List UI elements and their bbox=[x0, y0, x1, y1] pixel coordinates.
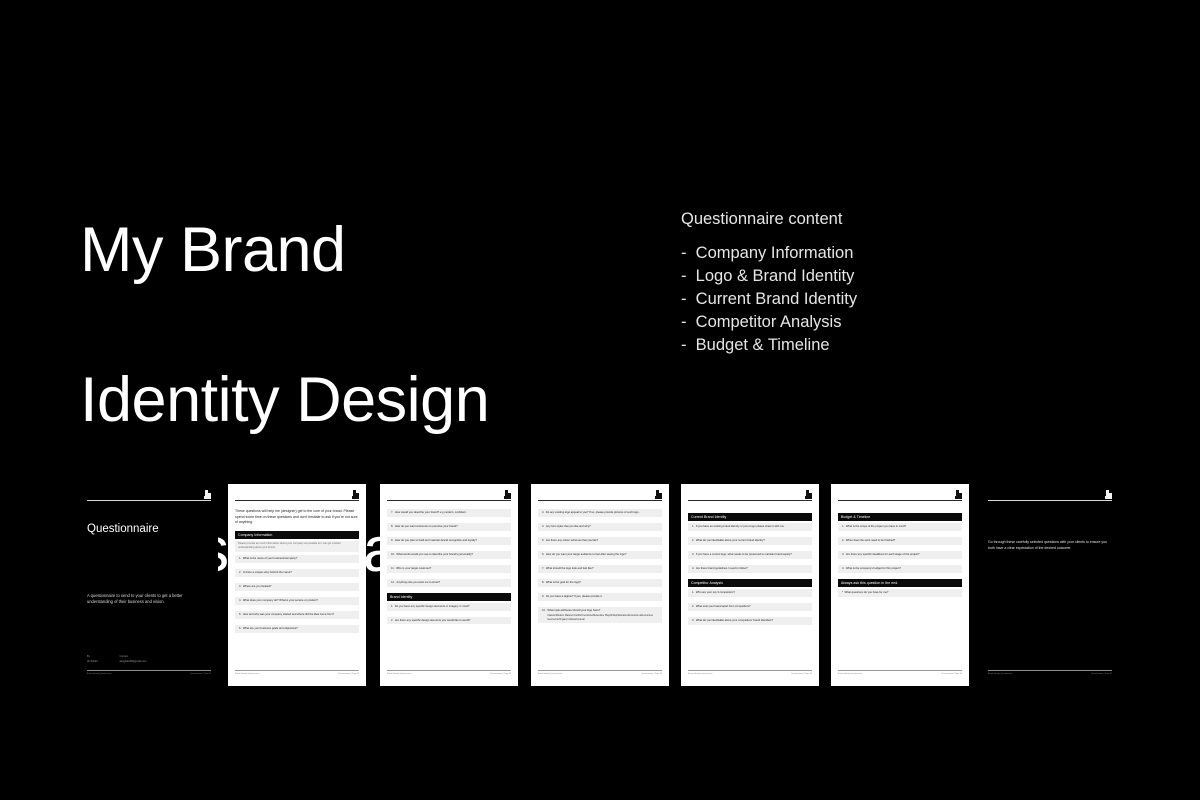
question-number: 1. bbox=[842, 525, 844, 529]
question-row[interactable]: 5.How and why was your company started a… bbox=[235, 611, 359, 619]
question-row[interactable]: 2.When does the work need to be finished… bbox=[838, 537, 962, 545]
question-row[interactable]: 11.Who is your target customer? bbox=[387, 565, 511, 573]
question-text: Are there any specific deadlines for eac… bbox=[846, 553, 959, 557]
section-header: Current Brand Identity bbox=[688, 513, 812, 521]
question-row[interactable]: 9.How do you plan to build and maintain … bbox=[387, 537, 511, 545]
question-text: What should the logo look and feel like? bbox=[546, 567, 659, 571]
question-row[interactable]: 3.If you have a current logo, what needs… bbox=[688, 551, 812, 559]
footer-rule bbox=[838, 670, 962, 671]
footer-right-text: Questionnaire | Page 06 bbox=[941, 673, 962, 676]
question-row[interactable]: 4.Any font styles that you like and why? bbox=[538, 523, 662, 531]
page-title-line-2: Identity Design bbox=[80, 363, 489, 438]
question-number: 3. bbox=[842, 553, 844, 557]
page-header bbox=[838, 490, 962, 503]
footer-rule bbox=[688, 670, 812, 671]
question-text: What do you like/dislike about your curr… bbox=[696, 539, 809, 543]
question-text: What is the company's budget for this pr… bbox=[846, 567, 959, 571]
question-text: Are there any colour schemes that you li… bbox=[546, 539, 659, 543]
question-number: 5. bbox=[239, 613, 241, 617]
question-number: 6. bbox=[542, 553, 544, 557]
question-number: 9. bbox=[542, 595, 544, 599]
section-header: Company Information bbox=[235, 531, 359, 539]
page-header bbox=[87, 490, 211, 503]
page-header bbox=[387, 490, 511, 503]
question-text: How would you describe your brand? e.g m… bbox=[395, 511, 508, 515]
footer-right-text: Questionnaire | Page 05 bbox=[791, 673, 812, 676]
footer-left-text: Brand Identity Questionnaire bbox=[688, 673, 713, 676]
cover-meta-label: By bbox=[87, 655, 97, 658]
footer-left-text: Brand Identity Questionnaire bbox=[235, 673, 260, 676]
question-text: If you have a current logo, what needs t… bbox=[696, 553, 809, 557]
question-row[interactable]: 4.Are there brand guidelines I need to f… bbox=[688, 565, 812, 573]
brand-a-logo-icon bbox=[1105, 490, 1112, 499]
question-row[interactable]: 3.Where are you located? bbox=[235, 583, 359, 591]
question-text: What is the goal for the logo? bbox=[546, 581, 659, 585]
footer-right-text: Questionnaire | Page 02 bbox=[338, 673, 359, 676]
question-text: What questions do you have for me? bbox=[845, 591, 959, 595]
section-header: Budget & Timeline bbox=[838, 513, 962, 521]
question-text: What is the name of your business/compan… bbox=[243, 557, 356, 561]
page-footer: Brand Identity QuestionnaireQuestionnair… bbox=[387, 669, 511, 681]
question-text: Who are your top 3 competitors? bbox=[696, 591, 809, 595]
question-text: Anything else you want me to know? bbox=[396, 581, 508, 585]
question-row[interactable]: 1.What is the scope of the project you h… bbox=[838, 523, 962, 531]
question-number: 8. bbox=[391, 525, 393, 529]
brand-a-logo-icon bbox=[352, 490, 359, 499]
contents-item-competitor-analysis: - Competitor Analysis bbox=[681, 311, 857, 334]
cover-description: A questionnaire to send to your clients … bbox=[87, 593, 203, 605]
page-header bbox=[688, 490, 812, 503]
question-row[interactable]: 1.If you have an existing brand identity… bbox=[688, 523, 812, 531]
question-text: Any font styles that you like and why? bbox=[546, 525, 659, 529]
question-row[interactable]: 1.Do you have any specific design elemen… bbox=[387, 603, 511, 611]
question-number: 3. bbox=[692, 619, 694, 623]
question-number: 11. bbox=[391, 567, 395, 571]
intro-paragraph: These questions will help me (designer) … bbox=[235, 509, 359, 526]
question-row[interactable]: 7.How would you describe your brand? e.g… bbox=[387, 509, 511, 517]
question-row[interactable]: 4.What is the company's budget for this … bbox=[838, 565, 962, 573]
question-text: What sets your brand apart from competit… bbox=[696, 605, 809, 609]
contents-item-current-brand-identity: - Current Brand Identity bbox=[681, 288, 857, 311]
page-footer: Brand Identity QuestionnaireQuestionnair… bbox=[688, 669, 812, 681]
brand-a-logo-icon bbox=[955, 490, 962, 499]
brand-a-logo-icon bbox=[504, 490, 511, 499]
brand-a-logo-icon bbox=[655, 490, 662, 499]
question-text: How do you want customers to perceive yo… bbox=[395, 525, 508, 529]
footer-left-text: Brand Identity Questionnaire bbox=[838, 673, 863, 676]
question-text: What are your business goals and objecti… bbox=[243, 627, 356, 631]
cover-meta-value: Ali Sohail bbox=[87, 660, 97, 663]
question-number: 8. bbox=[542, 581, 544, 585]
question-number: 7. bbox=[391, 511, 393, 515]
footer-right-text: Questionnaire | Page 07 bbox=[1091, 673, 1112, 676]
question-row[interactable]: 3.Do any existing logo appeal to you? If… bbox=[538, 509, 662, 517]
question-text: Do you have a tagline? If yes, please pr… bbox=[546, 595, 659, 599]
page-body: Go through these carefully selected ques… bbox=[988, 503, 1112, 669]
question-row[interactable]: 6.How do you want your target audience t… bbox=[538, 551, 662, 559]
page-title-line-1: My Brand bbox=[80, 213, 489, 288]
question-row[interactable]: 10.What words would you use to describe … bbox=[387, 551, 511, 559]
question-number: 2. bbox=[842, 539, 844, 543]
question-text: What style attributes should your logo h… bbox=[547, 609, 659, 622]
page-thumbnail-7[interactable]: Go through these carefully selected ques… bbox=[981, 484, 1119, 686]
footer-rule bbox=[988, 670, 1112, 671]
question-number: 4. bbox=[692, 567, 694, 571]
question-row[interactable]: 4.What does your company do? What is you… bbox=[235, 597, 359, 605]
question-text: How do you want your target audience to … bbox=[546, 553, 659, 557]
footer-rule bbox=[538, 670, 662, 671]
question-text: Who is your target customer? bbox=[396, 567, 508, 571]
question-number: 4. bbox=[239, 599, 241, 603]
question-number: 2. bbox=[692, 605, 694, 609]
brand-a-logo-icon bbox=[805, 490, 812, 499]
question-text: When does the work need to be finished? bbox=[846, 539, 959, 543]
question-number: 4. bbox=[542, 525, 544, 529]
page-footer: Brand Identity QuestionnaireQuestionnair… bbox=[87, 669, 211, 681]
question-number: 7. bbox=[542, 567, 544, 571]
question-number: 3. bbox=[239, 585, 241, 589]
section-header: Brand Identity bbox=[387, 593, 511, 601]
footer-right-text: Questionnaire | Page 03 bbox=[490, 673, 511, 676]
question-number: 1. bbox=[692, 591, 694, 595]
footer-left-text: Brand Identity Questionnaire bbox=[87, 673, 112, 676]
page-thumbnail-6[interactable]: Budget & Timeline1.What is the scope of … bbox=[831, 484, 969, 686]
page-header bbox=[988, 490, 1112, 503]
page-footer: Brand Identity QuestionnaireQuestionnair… bbox=[538, 669, 662, 681]
contents-item-company-information: - Company Information bbox=[681, 242, 857, 265]
page-footer: Brand Identity QuestionnaireQuestionnair… bbox=[838, 669, 962, 681]
question-number: 1. bbox=[239, 557, 241, 561]
question-number: 2. bbox=[391, 619, 393, 623]
question-number: 1. bbox=[692, 525, 694, 529]
question-number: 5. bbox=[542, 539, 544, 543]
question-text: Are there any specific design elements y… bbox=[395, 619, 508, 623]
question-row[interactable]: *What questions do you have for me? bbox=[838, 589, 962, 597]
question-row[interactable]: 1.Who are your top 3 competitors? bbox=[688, 589, 812, 597]
question-text: How and why was your company started and… bbox=[243, 613, 356, 617]
question-row[interactable]: 12.Anything else you want me to know? bbox=[387, 579, 511, 587]
page-body: 3.Do any existing logo appeal to you? If… bbox=[538, 503, 662, 669]
page-thumbnail-3[interactable]: 7.How would you describe your brand? e.g… bbox=[380, 484, 518, 686]
question-row[interactable]: 2.What do you like/dislike about your cu… bbox=[688, 537, 812, 545]
question-row[interactable]: 7.What should the logo look and feel lik… bbox=[538, 565, 662, 573]
footer-rule bbox=[387, 670, 511, 671]
footer-left-text: Brand Identity Questionnaire bbox=[988, 673, 1013, 676]
footer-rule bbox=[87, 670, 211, 671]
question-row[interactable]: 10.What style attributes should your log… bbox=[538, 607, 662, 624]
question-row[interactable]: 2.What sets your brand apart from compet… bbox=[688, 603, 812, 611]
question-number: 3. bbox=[542, 511, 544, 515]
page-header bbox=[538, 490, 662, 503]
question-number: 10. bbox=[391, 553, 395, 557]
question-text: Do any existing logo appeal to you? If s… bbox=[546, 511, 659, 515]
question-text: How do you plan to build and maintain br… bbox=[395, 539, 508, 543]
header-rule bbox=[538, 500, 662, 501]
section-header: Always ask this question in the end. bbox=[838, 579, 962, 587]
question-text: What is the scope of the project you hav… bbox=[846, 525, 959, 529]
page-thumbnail-strip: QuestionnaireA questionnaire to send to … bbox=[0, 484, 1200, 686]
question-number: 4. bbox=[842, 567, 844, 571]
question-number: 3. bbox=[692, 553, 694, 557]
brand-a-logo-icon bbox=[204, 490, 211, 499]
question-number: 2. bbox=[692, 539, 694, 543]
question-row[interactable]: 8.How do you want customers to perceive … bbox=[387, 523, 511, 531]
question-row[interactable]: 9.Do you have a tagline? If yes, please … bbox=[538, 593, 662, 601]
question-text: Are there brand guidelines I need to fol… bbox=[696, 567, 809, 571]
footer-rule bbox=[235, 670, 359, 671]
question-text: What words would you use to describe you… bbox=[396, 553, 508, 557]
question-row[interactable]: 3.Are there any specific deadlines for e… bbox=[838, 551, 962, 559]
question-row[interactable]: 3.What do you like/dislike about your co… bbox=[688, 617, 812, 625]
closing-text: Go through these carefully selected ques… bbox=[988, 539, 1108, 551]
question-text: Is there a unique story behind the name? bbox=[243, 571, 356, 575]
page-footer: Brand Identity QuestionnaireQuestionnair… bbox=[988, 669, 1112, 681]
question-text: Where are you located? bbox=[243, 585, 356, 589]
page-body: Current Brand Identity1.If you have an e… bbox=[688, 503, 812, 669]
page-footer: Brand Identity QuestionnaireQuestionnair… bbox=[235, 669, 359, 681]
page-thumbnail-5[interactable]: Current Brand Identity1.If you have an e… bbox=[681, 484, 819, 686]
question-row[interactable]: 1.What is the name of your business/comp… bbox=[235, 555, 359, 563]
page-thumbnail-4[interactable]: 3.Do any existing logo appeal to you? If… bbox=[531, 484, 669, 686]
footer-left-text: Brand Identity Questionnaire bbox=[387, 673, 412, 676]
question-row[interactable]: 2.Are there any specific design elements… bbox=[387, 617, 511, 625]
header-rule bbox=[838, 500, 962, 501]
contents-panel: Questionnaire content - Company Informat… bbox=[681, 208, 857, 357]
header-rule bbox=[235, 500, 359, 501]
footer-right-text: Questionnaire | Page 04 bbox=[641, 673, 662, 676]
cover-title: Questionnaire bbox=[87, 523, 159, 536]
section-note: Please provide as much information about… bbox=[235, 541, 359, 552]
question-row[interactable]: 6.What are your business goals and objec… bbox=[235, 625, 359, 633]
question-row[interactable]: 2.Is there a unique story behind the nam… bbox=[235, 569, 359, 577]
question-number: 9. bbox=[391, 539, 393, 543]
footer-right-text: Questionnaire | Page 01 bbox=[190, 673, 211, 676]
section-header: Competitor Analysis bbox=[688, 579, 812, 587]
contents-item-logo-brand-identity: - Logo & Brand Identity bbox=[681, 265, 857, 288]
cover-meta-value: aasgfsa249@gmail.com bbox=[119, 660, 146, 663]
question-number: * bbox=[842, 591, 843, 595]
question-row[interactable]: 5.Are there any colour schemes that you … bbox=[538, 537, 662, 545]
contents-item-budget-timeline: - Budget & Timeline bbox=[681, 334, 857, 357]
contents-heading: Questionnaire content bbox=[681, 208, 857, 230]
question-number: 12. bbox=[391, 581, 395, 585]
question-text: What do you like/dislike about your comp… bbox=[696, 619, 809, 623]
question-number: 10. bbox=[542, 609, 546, 613]
page-header bbox=[235, 490, 359, 503]
cover-meta-label: Contact bbox=[119, 655, 146, 658]
question-text: What does your company do? What is your … bbox=[243, 599, 356, 603]
question-row[interactable]: 8.What is the goal for the logo? bbox=[538, 579, 662, 587]
question-number: 2. bbox=[239, 571, 241, 575]
header-rule bbox=[988, 500, 1112, 501]
header-rule bbox=[87, 500, 211, 501]
cover-meta-item-1: Contactaasgfsa249@gmail.com bbox=[119, 655, 146, 663]
question-number: 6. bbox=[239, 627, 241, 631]
page-body: QuestionnaireA questionnaire to send to … bbox=[87, 503, 211, 669]
cover-meta-item-0: ByAli Sohail bbox=[87, 655, 97, 663]
question-number: 1. bbox=[391, 605, 393, 609]
header-rule bbox=[387, 500, 511, 501]
question-text: Do you have any specific design elements… bbox=[395, 605, 508, 609]
cover-meta: ByAli SohailContactaasgfsa249@gmail.com bbox=[87, 655, 146, 663]
page-thumbnail-2[interactable]: These questions will help me (designer) … bbox=[228, 484, 366, 686]
page-thumbnail-1[interactable]: QuestionnaireA questionnaire to send to … bbox=[80, 484, 218, 686]
page-body: Budget & Timeline1.What is the scope of … bbox=[838, 503, 962, 669]
question-options: Classic/Modern Mature/Youthful Feminine/… bbox=[547, 614, 659, 622]
question-text: If you have an existing brand identity o… bbox=[696, 525, 809, 529]
footer-left-text: Brand Identity Questionnaire bbox=[538, 673, 563, 676]
page-body: 7.How would you describe your brand? e.g… bbox=[387, 503, 511, 669]
header-rule bbox=[688, 500, 812, 501]
page-body: These questions will help me (designer) … bbox=[235, 503, 359, 669]
